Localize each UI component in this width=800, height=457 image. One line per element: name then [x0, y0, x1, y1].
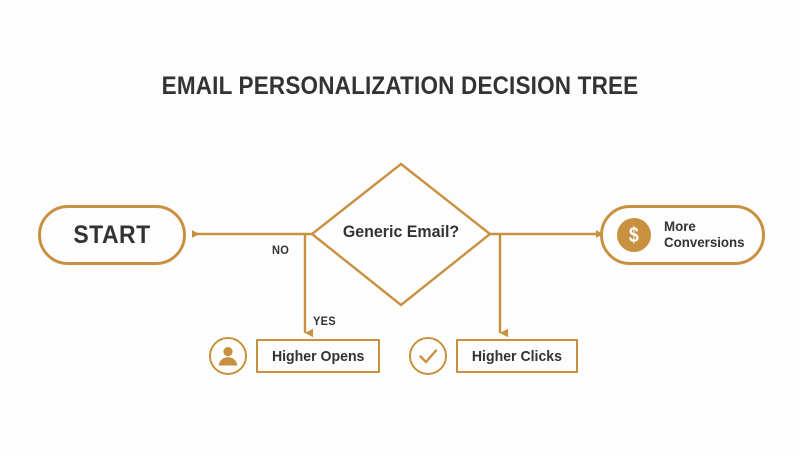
node-more-conversions[interactable]: $ More Conversions: [600, 205, 765, 265]
outcome-higher-clicks[interactable]: Higher Clicks: [409, 337, 578, 375]
outcome-higher-clicks-label: Higher Clicks: [472, 348, 562, 365]
branch-label-no: NO: [272, 243, 289, 257]
conversions-line-1: More: [664, 219, 745, 235]
dollar-glyph: $: [629, 225, 639, 246]
user-icon: [209, 337, 247, 375]
branch-label-yes: YES: [313, 314, 336, 328]
node-more-conversions-label: More Conversions: [664, 219, 745, 250]
diagram-canvas: EMAIL PERSONALIZATION DECISION TREE STAR…: [0, 0, 800, 457]
node-start[interactable]: START: [38, 205, 186, 265]
outcome-higher-opens[interactable]: Higher Opens: [209, 337, 380, 375]
outcome-higher-clicks-box: Higher Clicks: [456, 339, 578, 373]
check-icon: [409, 337, 447, 375]
node-start-label: START: [73, 221, 150, 250]
outcome-higher-opens-box: Higher Opens: [256, 339, 380, 373]
page-title: EMAIL PERSONALIZATION DECISION TREE: [40, 72, 760, 101]
conversions-line-2: Conversions: [664, 235, 745, 251]
dollar-coin-icon: $: [617, 218, 651, 252]
decision-label: Generic Email?: [317, 222, 484, 242]
outcome-higher-opens-label: Higher Opens: [272, 348, 364, 365]
